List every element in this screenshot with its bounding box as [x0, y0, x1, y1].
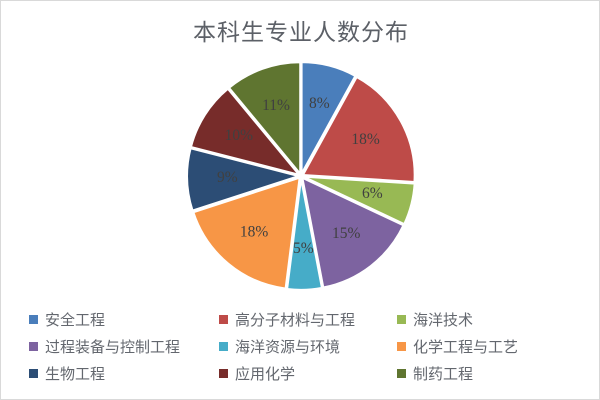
legend: 安全工程高分子材料与工程海洋技术过程装备与控制工程海洋资源与环境化学工程与工艺生…: [29, 306, 577, 387]
legend-item-label: 制药工程: [413, 363, 473, 384]
legend-item[interactable]: 应用化学: [219, 363, 397, 384]
legend-item[interactable]: 生物工程: [29, 363, 219, 384]
legend-item-label: 海洋资源与环境: [235, 336, 340, 357]
legend-swatch-icon: [219, 315, 228, 324]
pie-slice-value-label: 5%: [293, 240, 314, 257]
pie-svg: 8%18%6%15%5%18%9%10%11%: [181, 56, 421, 296]
pie-slice-value-label: 18%: [240, 223, 269, 240]
legend-item-label: 化学工程与工艺: [413, 336, 518, 357]
legend-item-label: 生物工程: [45, 363, 105, 384]
legend-item[interactable]: 过程装备与控制工程: [29, 336, 219, 357]
legend-item[interactable]: 高分子材料与工程: [219, 309, 397, 330]
pie-slice-value-label: 8%: [309, 95, 330, 112]
pie-plot-area: 8%18%6%15%5%18%9%10%11%: [181, 56, 421, 296]
pie-slice-value-label: 9%: [217, 169, 238, 186]
legend-item-label: 高分子材料与工程: [235, 309, 355, 330]
pie-slice-value-label: 18%: [351, 131, 380, 148]
legend-swatch-icon: [397, 315, 406, 324]
legend-item-label: 海洋技术: [413, 309, 473, 330]
legend-item[interactable]: 制药工程: [397, 363, 572, 384]
pie-chart-figure: 本科生专业人数分布 8%18%6%15%5%18%9%10%11% 安全工程高分…: [0, 0, 600, 400]
legend-swatch-icon: [29, 315, 38, 324]
legend-item-label: 过程装备与控制工程: [45, 336, 180, 357]
chart-title: 本科生专业人数分布: [1, 13, 600, 47]
legend-item[interactable]: 海洋资源与环境: [219, 336, 397, 357]
legend-item-label: 安全工程: [45, 309, 105, 330]
pie-slice-value-label: 15%: [332, 225, 361, 242]
pie-slice-value-label: 6%: [362, 185, 383, 202]
legend-item-label: 应用化学: [235, 363, 295, 384]
legend-item[interactable]: 安全工程: [29, 309, 219, 330]
legend-swatch-icon: [397, 369, 406, 378]
legend-swatch-icon: [219, 369, 228, 378]
legend-swatch-icon: [29, 342, 38, 351]
legend-item[interactable]: 化学工程与工艺: [397, 336, 572, 357]
legend-swatch-icon: [29, 369, 38, 378]
pie-slice-value-label: 11%: [262, 97, 290, 114]
legend-swatch-icon: [219, 342, 228, 351]
legend-item[interactable]: 海洋技术: [397, 309, 572, 330]
pie-slice-value-label: 10%: [225, 127, 254, 144]
legend-swatch-icon: [397, 342, 406, 351]
